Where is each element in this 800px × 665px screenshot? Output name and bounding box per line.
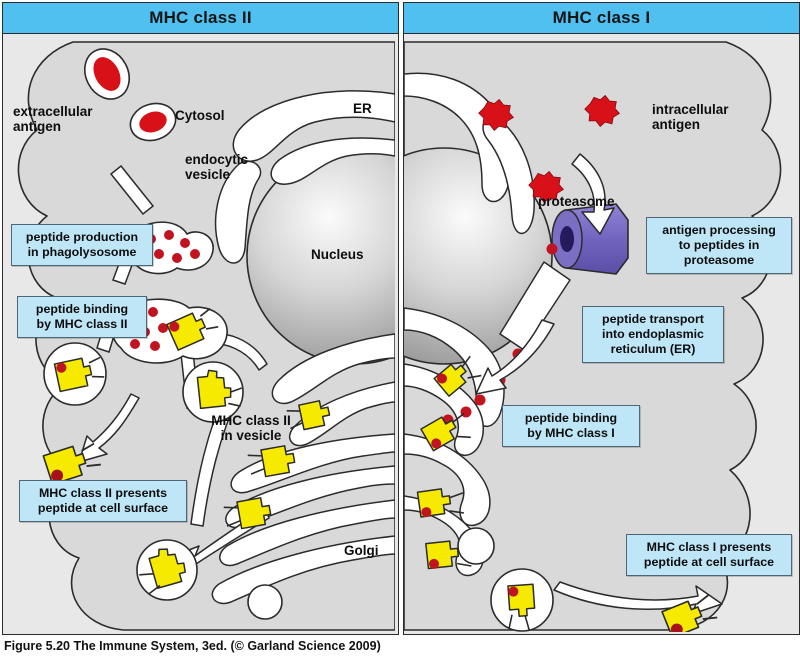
panel-title-mhc-class-ii: MHC class II <box>149 8 252 28</box>
small-vesicle-left <box>248 585 282 619</box>
small-vesicle-right <box>458 528 494 564</box>
label-extracellular-antigen: extracellular antigen <box>13 104 123 134</box>
label-proteasome: proteasome <box>538 194 615 209</box>
callout-mhc-i-presents[interactable]: MHC class I presents peptide at cell sur… <box>626 534 792 576</box>
label-golgi: Golgi <box>344 543 379 558</box>
callout-mhc-ii-presents[interactable]: MHC class II presents peptide at cell su… <box>19 480 187 522</box>
figure-caption: Figure 5.20 The Immune System, 3ed. (© G… <box>4 639 381 653</box>
callout-peptide-binding-mhc-ii[interactable]: peptide binding by MHC class II <box>17 296 147 338</box>
panel-mhc-class-i: MHC class I <box>403 2 800 635</box>
diagram-stage-left: extracellular antigen Cytosol endocytic … <box>3 34 398 632</box>
callout-peptide-transport[interactable]: peptide transport into endoplasmic retic… <box>582 306 724 363</box>
label-intracellular-antigen: intracellular antigen <box>652 102 764 132</box>
diagram-stage-right: intracellular antigen proteasome antigen… <box>404 34 799 632</box>
panel-header-mhc-class-ii: MHC class II <box>3 3 398 34</box>
label-er: ER <box>353 101 372 116</box>
callout-peptide-production[interactable]: peptide production in phagolysosome <box>11 224 153 266</box>
callout-peptide-binding-mhc-i[interactable]: peptide binding by MHC class I <box>502 405 640 447</box>
panel-header-mhc-class-i: MHC class I <box>404 3 799 34</box>
panel-title-mhc-class-i: MHC class I <box>553 8 651 28</box>
callout-antigen-processing[interactable]: antigen processing to peptides in protea… <box>646 217 792 274</box>
caption-main: Figure 5.20 The Immune System, 3ed. <box>4 639 227 653</box>
label-mhc-class-ii-in-vesicle: MHC class II in vesicle <box>191 413 311 443</box>
label-endocytic-vesicle: endocytic vesicle <box>185 152 281 182</box>
label-cytosol: Cytosol <box>175 108 225 123</box>
figure-root: MHC class II <box>0 0 800 665</box>
caption-credit: (© Garland Science 2009) <box>230 639 380 653</box>
mhc-i-transport-vesicle <box>491 569 553 631</box>
mhc-ii-loaded-vesicle-shape <box>44 343 106 405</box>
label-nucleus: Nucleus <box>311 247 364 262</box>
panel-mhc-class-ii: MHC class II <box>2 2 399 635</box>
